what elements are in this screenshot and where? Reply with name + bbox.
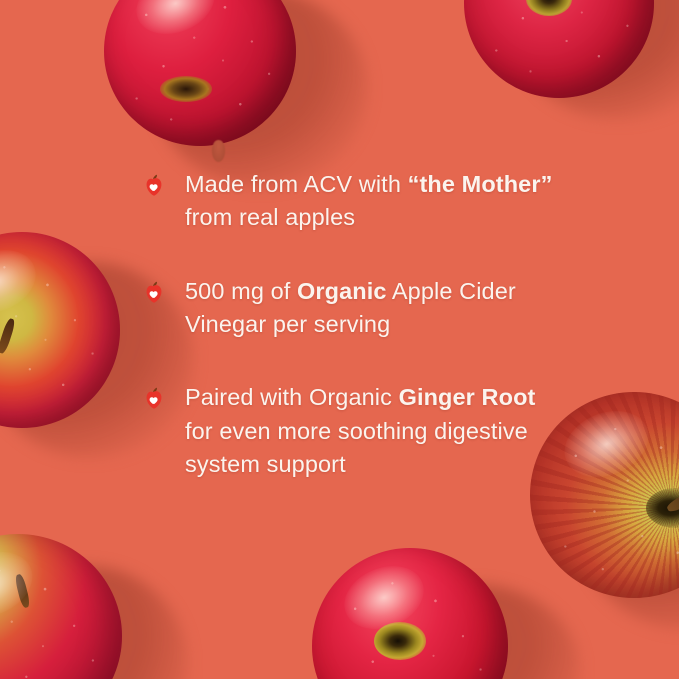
apple-left-middle-image — [0, 232, 154, 452]
apple-heart-icon — [143, 387, 163, 411]
apple-calyx — [374, 622, 426, 660]
list-item-text: 500 mg of Organic Apple Cider Vinegar pe… — [185, 275, 563, 342]
apple-speckles — [0, 534, 122, 679]
apple-top-left-image — [96, 0, 320, 174]
apple-top-right-image — [460, 0, 679, 118]
list-item: Paired with Organic Ginger Root for even… — [143, 381, 563, 481]
apple-body — [0, 534, 122, 679]
apple-calyx — [646, 488, 679, 528]
bullet-1-part-2: “the Mother” — [408, 171, 553, 197]
bullet-3-part-2: Ginger Root — [399, 384, 536, 410]
apple-calyx — [160, 76, 212, 102]
bullet-1-part-3: from real apples — [185, 204, 355, 230]
list-item-text: Paired with Organic Ginger Root for even… — [185, 381, 563, 481]
apple-stem-nub — [212, 140, 225, 162]
apple-body — [312, 548, 508, 679]
apple-stem — [14, 573, 31, 608]
apple-bottom-left-image — [0, 534, 154, 679]
apple-bottom-center-image — [312, 548, 548, 679]
bullet-3-part-1: Paired with Organic — [185, 384, 399, 410]
bullet-2-part-1: 500 mg of — [185, 278, 297, 304]
apple-speckles — [312, 548, 508, 679]
apple-heart-icon — [143, 174, 163, 198]
apple-stem — [0, 317, 16, 354]
apple-heart-icon — [143, 281, 163, 305]
apple-stem — [665, 486, 679, 514]
bullet-3-part-3: for even more soothing digestive system … — [185, 418, 528, 477]
list-item: 500 mg of Organic Apple Cider Vinegar pe… — [143, 275, 563, 342]
benefits-list: Made from ACV with “the Mother” from rea… — [143, 168, 563, 482]
bullet-1-part-1: Made from ACV with — [185, 171, 408, 197]
list-item: Made from ACV with “the Mother” from rea… — [143, 168, 563, 235]
apple-calyx — [526, 0, 572, 16]
bullet-2-part-2: Organic — [297, 278, 387, 304]
list-item-text: Made from ACV with “the Mother” from rea… — [185, 168, 563, 235]
product-benefits-poster: Made from ACV with “the Mother” from rea… — [0, 0, 679, 679]
